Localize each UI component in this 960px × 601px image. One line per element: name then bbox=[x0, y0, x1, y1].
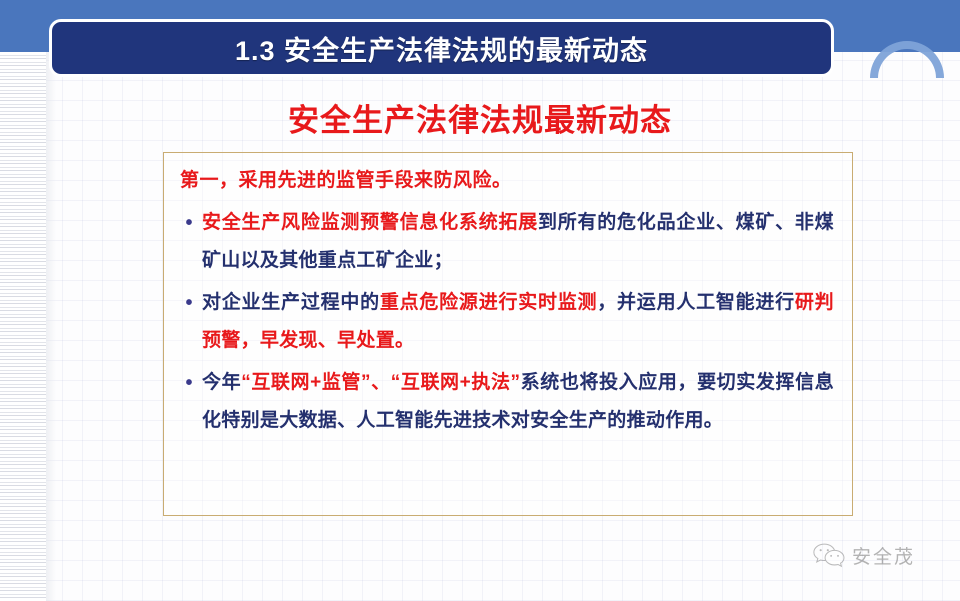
bullet-list: •安全生产风险监测预警信息化系统拓展到所有的危化品企业、煤矿、非煤矿山以及其他重… bbox=[176, 204, 834, 440]
bullet-text: 安全生产风险监测预警信息化系统拓展到所有的危化品企业、煤矿、非煤矿山以及其他重点… bbox=[202, 204, 834, 280]
slide-title-bar: 1.3 安全生产法律法规的最新动态 bbox=[49, 19, 834, 77]
bullet-item: •对企业生产过程中的重点危险源进行实时监测，并运用人工智能进行研判预警，早发现、… bbox=[176, 284, 834, 360]
text-run-blue: 今年 bbox=[202, 372, 241, 393]
bullet-marker-icon: • bbox=[176, 364, 202, 402]
bullet-text: 对企业生产过程中的重点危险源进行实时监测，并运用人工智能进行研判预警，早发现、早… bbox=[202, 284, 834, 360]
decorative-arc-icon bbox=[866, 4, 948, 78]
bullet-marker-icon: • bbox=[176, 204, 202, 242]
text-run-blue: ，并运用人工智能进行 bbox=[597, 292, 795, 313]
wechat-icon bbox=[812, 541, 846, 569]
page-title: 1.3 安全生产法律法规的最新动态 bbox=[235, 29, 648, 68]
text-run-blue: 对企业生产过程中的 bbox=[202, 292, 380, 313]
content-panel: 第一，采用先进的监管手段来防风险。 •安全生产风险监测预警信息化系统拓展到所有的… bbox=[163, 152, 853, 516]
watermark-label: 安全茂 bbox=[852, 542, 915, 569]
section-heading: 安全生产法律法规最新动态 bbox=[0, 95, 960, 140]
slide-canvas: 1.3 安全生产法律法规的最新动态 安全生产法律法规最新动态 第一，采用先进的监… bbox=[0, 0, 960, 601]
watermark: 安全茂 bbox=[812, 541, 915, 569]
bullet-text: 今年“互联网+监管”、“互联网+执法”系统也将投入应用，要切实发挥信息化特别是大… bbox=[202, 364, 834, 440]
text-run-red: “互联网+监管”、“互联网+执法” bbox=[241, 372, 520, 393]
text-run-red: 重点危险源进行实时监测 bbox=[380, 292, 597, 313]
bullet-marker-icon: • bbox=[176, 284, 202, 322]
bullet-item: •安全生产风险监测预警信息化系统拓展到所有的危化品企业、煤矿、非煤矿山以及其他重… bbox=[176, 204, 834, 280]
text-run-red: 安全生产风险监测预警信息化系统拓展 bbox=[202, 212, 538, 233]
bullet-item: •今年“互联网+监管”、“互联网+执法”系统也将投入应用，要切实发挥信息化特别是… bbox=[176, 364, 834, 440]
intro-text: 第一，采用先进的监管手段来防风险。 bbox=[180, 167, 834, 196]
